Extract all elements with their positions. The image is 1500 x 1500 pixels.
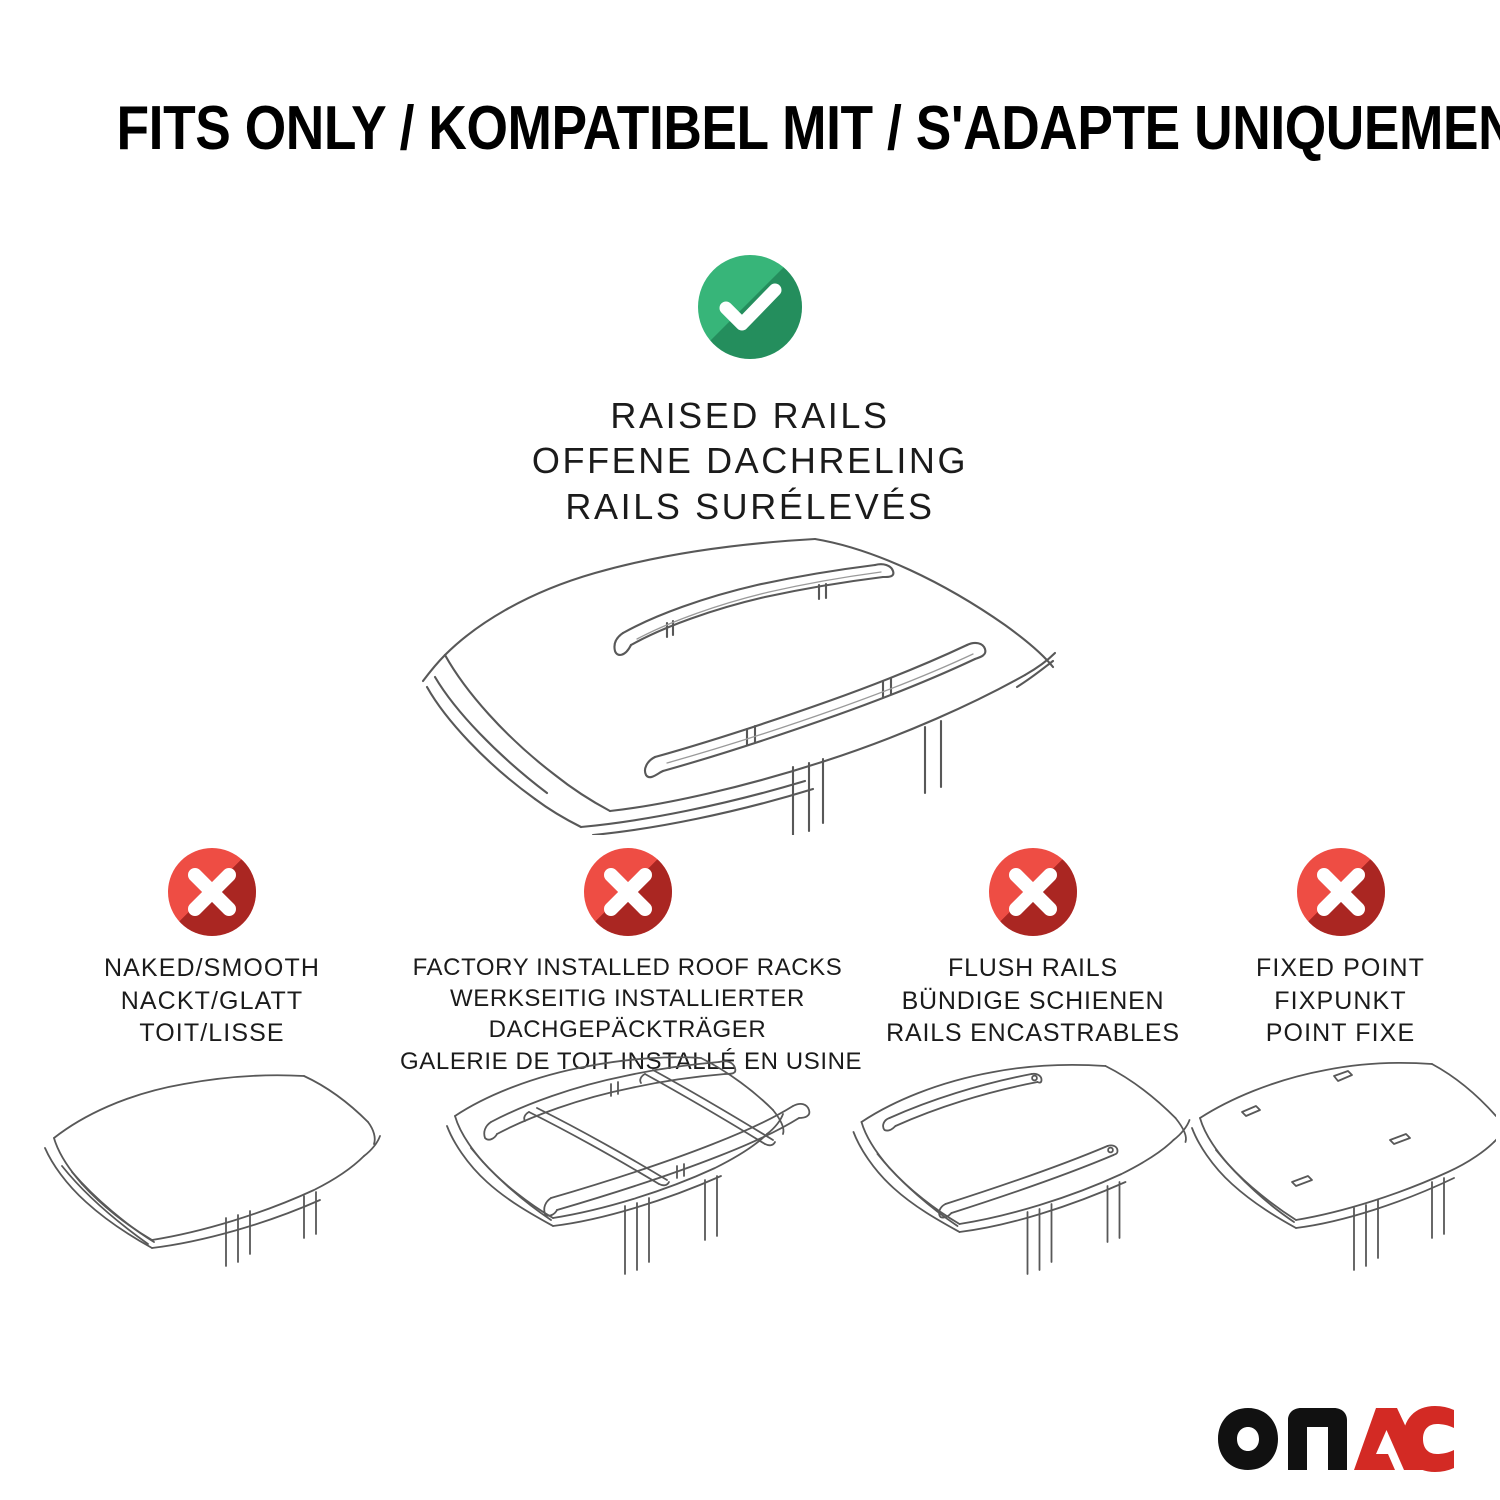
incompatible-section: NAKED/SMOOTH NACKT/GLATT TOIT/LISSE bbox=[0, 848, 1500, 1308]
incompatible-item-naked-smooth: NAKED/SMOOTH NACKT/GLATT TOIT/LISSE bbox=[42, 848, 382, 1050]
page-title-container: FITS ONLY / KOMPATIBEL MIT / S'ADAPTE UN… bbox=[0, 98, 1500, 160]
compatible-label-de: OFFENE DACHRELING bbox=[0, 438, 1500, 483]
page-title: FITS ONLY / KOMPATIBEL MIT / S'ADAPTE UN… bbox=[117, 98, 1500, 160]
label-en: NAKED/SMOOTH bbox=[42, 952, 382, 985]
label-de: FIXPUNKT bbox=[1208, 985, 1473, 1018]
incompatible-labels-fixed-point: FIXED POINT FIXPUNKT POINT FIXE bbox=[1208, 952, 1473, 1050]
x-circle-icon bbox=[168, 848, 256, 936]
label-de-1: WERKSEITIG INSTALLIERTER bbox=[400, 983, 855, 1014]
incompatible-labels-flush-rails: FLUSH RAILS BÜNDIGE SCHIENEN RAILS ENCAS… bbox=[862, 952, 1204, 1050]
incompatible-item-fixed-point: FIXED POINT FIXPUNKT POINT FIXE bbox=[1208, 848, 1473, 1050]
car-roof-with-flush-rails-illustration bbox=[846, 1056, 1221, 1276]
label-en: FIXED POINT bbox=[1208, 952, 1473, 985]
label-de: NACKT/GLATT bbox=[42, 985, 382, 1018]
x-circle-icon bbox=[1297, 848, 1385, 936]
label-en: FACTORY INSTALLED ROOF RACKS bbox=[400, 952, 855, 983]
incompatible-item-flush-rails: FLUSH RAILS BÜNDIGE SCHIENEN RAILS ENCAS… bbox=[862, 848, 1204, 1050]
label-fr: RAILS ENCASTRABLES bbox=[862, 1017, 1204, 1050]
incompatible-labels-naked-smooth: NAKED/SMOOTH NACKT/GLATT TOIT/LISSE bbox=[42, 952, 382, 1050]
label-de: BÜNDIGE SCHIENEN bbox=[862, 985, 1204, 1018]
car-roof-naked-smooth-illustration bbox=[42, 1056, 382, 1276]
incompatible-item-factory-roof-racks: FACTORY INSTALLED ROOF RACKS WERKSEITIG … bbox=[400, 848, 855, 1077]
label-fr: TOIT/LISSE bbox=[42, 1017, 382, 1050]
check-circle-icon bbox=[698, 255, 802, 359]
label-de-2: DACHGEPÄCKTRÄGER bbox=[400, 1014, 855, 1045]
car-roof-with-factory-crossbars-illustration bbox=[433, 1048, 823, 1278]
x-circle-icon bbox=[989, 848, 1077, 936]
compatible-section: RAISED RAILS OFFENE DACHRELING RAILS SUR… bbox=[0, 255, 1500, 529]
label-en: FLUSH RAILS bbox=[862, 952, 1204, 985]
car-roof-with-raised-rails-illustration bbox=[405, 505, 1105, 835]
omac-logo: OMAC bbox=[1216, 1406, 1456, 1472]
car-roof-with-fixed-points-illustration bbox=[1186, 1056, 1496, 1276]
label-fr: POINT FIXE bbox=[1208, 1017, 1473, 1050]
x-circle-icon bbox=[584, 848, 672, 936]
compatible-label-en: RAISED RAILS bbox=[0, 393, 1500, 438]
